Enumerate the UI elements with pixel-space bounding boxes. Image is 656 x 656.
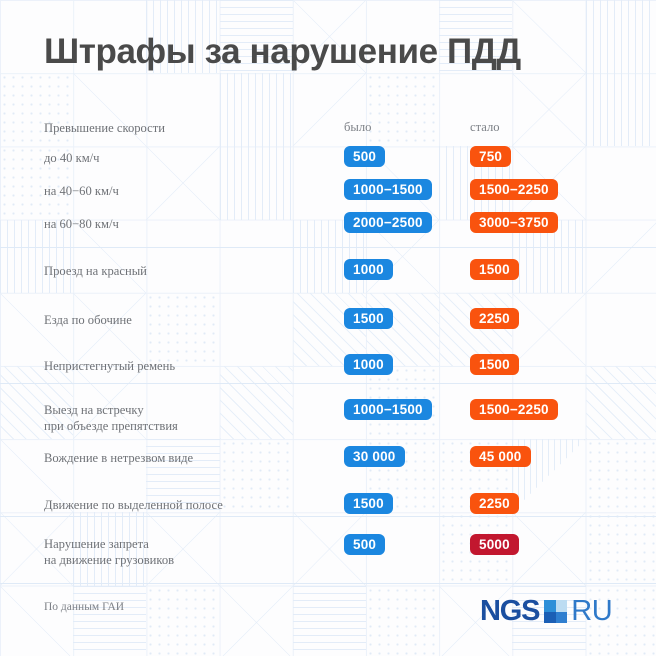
badge-was-drunk-driving: 30 000 [344,446,405,467]
badge-was-oncoming: 1000−1500 [344,399,432,420]
badge-was-speeding-40: 500 [344,146,385,167]
row-label-bus-lane: Движение по выделенной полосе [44,497,223,513]
badge-now-oncoming: 1500−2250 [470,399,558,420]
row-label-oncoming: Выезд на встречку при объезде препятстви… [44,402,178,434]
badge-now-red-light: 1500 [470,259,519,280]
column-header-now: стало [470,120,500,135]
row-label-drunk-driving: Вождение в нетрезвом виде [44,450,193,466]
logo-ngs-text: NGS [480,597,539,626]
row-label-speeding-40: до 40 км/ч [44,150,100,166]
badge-now-truck-ban: 5000 [470,534,519,555]
badge-now-seatbelt: 1500 [470,354,519,375]
badge-was-red-light: 1000 [344,259,393,280]
badge-was-shoulder: 1500 [344,308,393,329]
row-label-red-light: Проезд на красный [44,263,147,279]
section-header-speeding: Превышение скорости [44,120,165,136]
infographic-poster: Штрафы за нарушение ПДД Превышение скоро… [0,0,656,656]
row-label-shoulder: Езда по обочине [44,312,132,328]
ngs-ru-logo[interactable]: NGS RU [480,597,612,626]
badge-was-seatbelt: 1000 [344,354,393,375]
row-label-seatbelt: Непристегнутый ремень [44,358,175,374]
badge-was-truck-ban: 500 [344,534,385,555]
badge-now-shoulder: 2250 [470,308,519,329]
badge-now-bus-lane: 2250 [470,493,519,514]
source-note: По данным ГАИ [44,601,124,613]
section-divider-3 [0,516,656,517]
page-title: Штрафы за нарушение ПДД [44,32,521,72]
ngs-square-icon [544,600,567,623]
column-header-was: было [344,120,371,135]
row-label-speeding-60-80: на 60−80 км/ч [44,216,119,232]
section-divider-2 [0,383,656,384]
badge-now-drunk-driving: 45 000 [470,446,531,467]
row-label-speeding-40-60: на 40−60 км/ч [44,183,119,199]
badge-now-speeding-40-60: 1500−2250 [470,179,558,200]
badge-now-speeding-60-80: 3000−3750 [470,212,558,233]
badge-was-speeding-40-60: 1000−1500 [344,179,432,200]
row-label-truck-ban: Нарушение запрета на движение грузовиков [44,536,174,568]
badge-was-speeding-60-80: 2000−2500 [344,212,432,233]
badge-was-bus-lane: 1500 [344,493,393,514]
logo-ru-text: RU [571,597,612,626]
footer-divider [0,583,656,584]
section-divider-1 [0,247,656,248]
badge-now-speeding-40: 750 [470,146,511,167]
